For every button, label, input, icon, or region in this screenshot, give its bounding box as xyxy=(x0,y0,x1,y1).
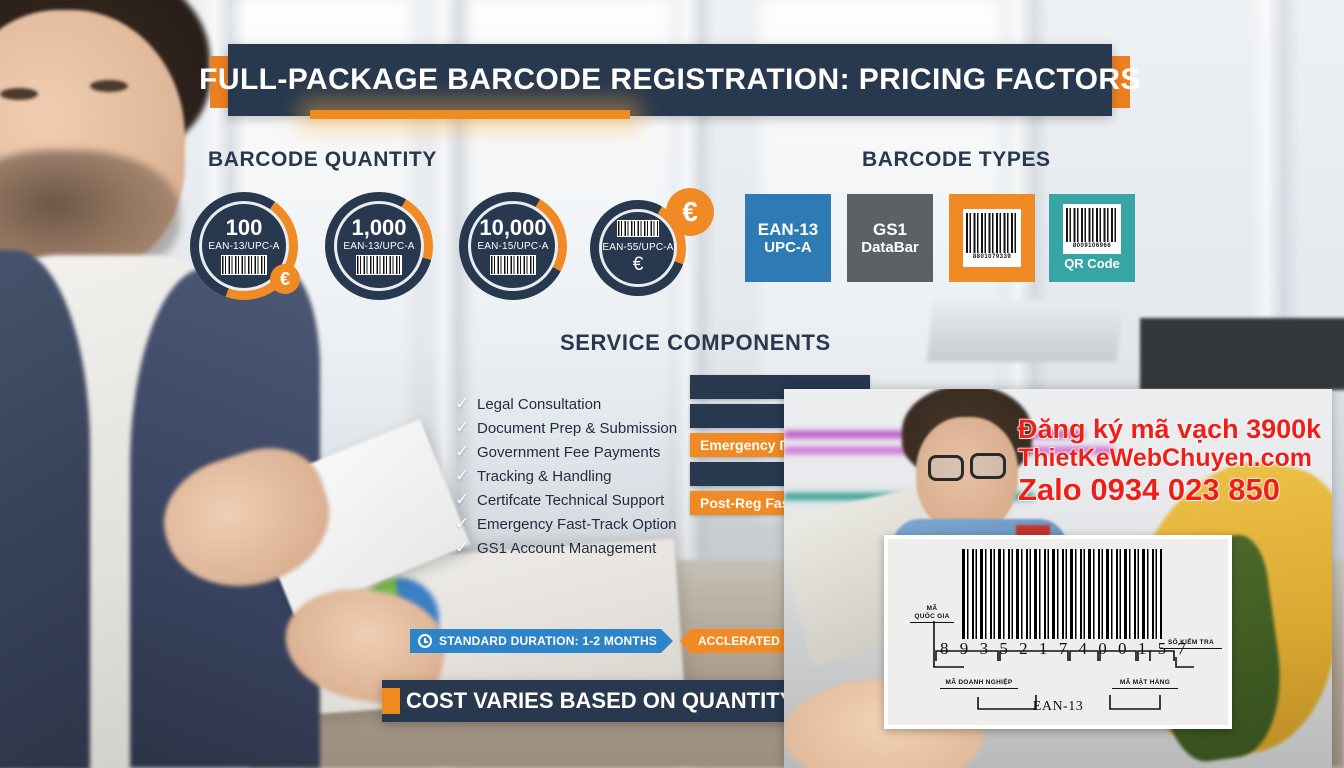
service-label: Certifcate Technical Support xyxy=(477,492,664,509)
quantity-circle-inner: 10,000 EAN-15/UPC-A xyxy=(468,201,558,291)
service-label: Tracking & Handling xyxy=(477,468,612,485)
check-icon: ✓ xyxy=(455,418,477,438)
barcode-type-tile-qrcode[interactable]: 8009106966 QR Code xyxy=(1049,194,1135,282)
quantity-circle: 1,000 EAN-13/UPC-A xyxy=(325,192,433,300)
barcode-stripes xyxy=(1066,208,1118,242)
barcode-type-tile-barcode[interactable]: 8801079339 xyxy=(949,194,1035,282)
clock-icon xyxy=(418,634,432,648)
section-heading-types: BARCODE TYPES xyxy=(862,148,1051,172)
quantity-label: EAN-55/UPC-A xyxy=(602,242,673,253)
euro-icon: € xyxy=(270,264,300,294)
ad-overlay: Đăng ký mã vạch 3900k ThietKeWebChuyen.c… xyxy=(784,389,1332,768)
tile-line-1: GS1 xyxy=(873,220,907,240)
glasses-icon xyxy=(970,453,1006,479)
service-label: Emergency Fast-Track Option xyxy=(477,516,677,533)
quantity-circle: EAN-55/UPC-A € € xyxy=(590,200,686,296)
standard-duration-label: STANDARD DURATION: 1-2 MONTHS xyxy=(439,634,657,648)
ean-note-country: MÃQUỐC GIA xyxy=(910,605,954,623)
barcode-icon xyxy=(356,255,402,275)
check-icon: ✓ xyxy=(455,466,477,486)
check-icon: ✓ xyxy=(455,442,477,462)
quantity-number: 10,000 xyxy=(479,217,546,239)
quantity-number: 100 xyxy=(226,217,263,239)
check-icon: ✓ xyxy=(455,394,477,414)
quantity-circle: 10,000 EAN-15/UPC-A xyxy=(459,192,567,300)
quantity-circle: 100 EAN-13/UPC-A € xyxy=(190,192,298,300)
list-item: ✓ GS1 Account Management xyxy=(455,536,755,560)
quantity-number: 1,000 xyxy=(351,217,406,239)
barcode-type-tile-ean13[interactable]: EAN-13 UPC-A xyxy=(745,194,831,282)
accelerated-duration-label: ACCLERATED D xyxy=(698,634,792,648)
section-heading-quantity: BARCODE QUANTITY xyxy=(208,148,437,172)
barcode-stripes xyxy=(966,213,1018,253)
cost-banner-text: COST VARIES BASED ON QUANTITY, TYP xyxy=(406,688,847,714)
quantity-label: EAN-15/UPC-A xyxy=(477,241,548,252)
barcode-icon: 8009106966 xyxy=(1063,204,1121,254)
ean-caption: EAN-13 xyxy=(888,699,1228,715)
title-bar: FULL-PACKAGE BARCODE REGISTRATION: PRICI… xyxy=(228,44,1112,116)
page-title: FULL-PACKAGE BARCODE REGISTRATION: PRICI… xyxy=(199,63,1141,97)
glasses-icon xyxy=(928,455,964,481)
ean-note-company: MÃ DOANH NGHIỆP xyxy=(940,679,1018,689)
check-icon: ✓ xyxy=(455,538,477,558)
quantity-label: EAN-13/UPC-A xyxy=(343,241,414,252)
ad-text-block: Đăng ký mã vạch 3900k ThietKeWebChuyen.c… xyxy=(1018,415,1332,506)
section-heading-services: SERVICE COMPONENTS xyxy=(560,330,831,356)
barcode-digits: 8009106966 xyxy=(1073,243,1111,250)
ad-line-3: Zalo 0934 023 850 xyxy=(1018,474,1332,507)
service-label: Document Prep & Submission xyxy=(477,420,677,437)
quantity-circle-inner: 1,000 EAN-13/UPC-A xyxy=(334,201,424,291)
check-icon: ✓ xyxy=(455,514,477,534)
ean-note-check: SỐ KIỂM TRA xyxy=(1160,639,1222,649)
barcode-icon xyxy=(490,255,536,275)
banner-accent xyxy=(382,688,400,714)
tile-line-2: QR Code xyxy=(1064,257,1120,272)
standard-duration-chip: STANDARD DURATION: 1-2 MONTHS xyxy=(410,629,673,653)
tile-line-1: EAN-13 xyxy=(758,220,818,240)
check-icon: ✓ xyxy=(455,490,477,510)
service-label: Government Fee Payments xyxy=(477,444,660,461)
ad-line-2: ThietKeWebChuyen.com xyxy=(1018,445,1332,471)
service-label: GS1 Account Management xyxy=(477,540,656,557)
barcode-icon xyxy=(617,220,659,237)
ad-line-1: Đăng ký mã vạch 3900k xyxy=(1018,415,1332,443)
tile-line-2: UPC-A xyxy=(764,239,812,256)
barcode-digits: 8801079339 xyxy=(973,254,1011,261)
ean13-diagram-card: 8 9 3 5 2 1 7 4 0 0 1 5 7 xyxy=(884,535,1232,729)
quantity-label: EAN-13/UPC-A xyxy=(208,241,279,252)
title-underline xyxy=(310,110,630,119)
tile-line-2: DataBar xyxy=(861,239,919,256)
euro-symbol: € xyxy=(633,254,644,276)
service-label: Legal Consultation xyxy=(477,396,601,413)
barcode-icon xyxy=(221,255,267,275)
barcode-icon: 8801079339 xyxy=(963,209,1021,267)
quantity-circle-inner: EAN-55/UPC-A € xyxy=(599,209,677,287)
ean-note-product: MÃ MẶT HÀNG xyxy=(1112,679,1178,689)
barcode-type-tile-gs1[interactable]: GS1 DataBar xyxy=(847,194,933,282)
euro-icon: € xyxy=(666,188,714,236)
